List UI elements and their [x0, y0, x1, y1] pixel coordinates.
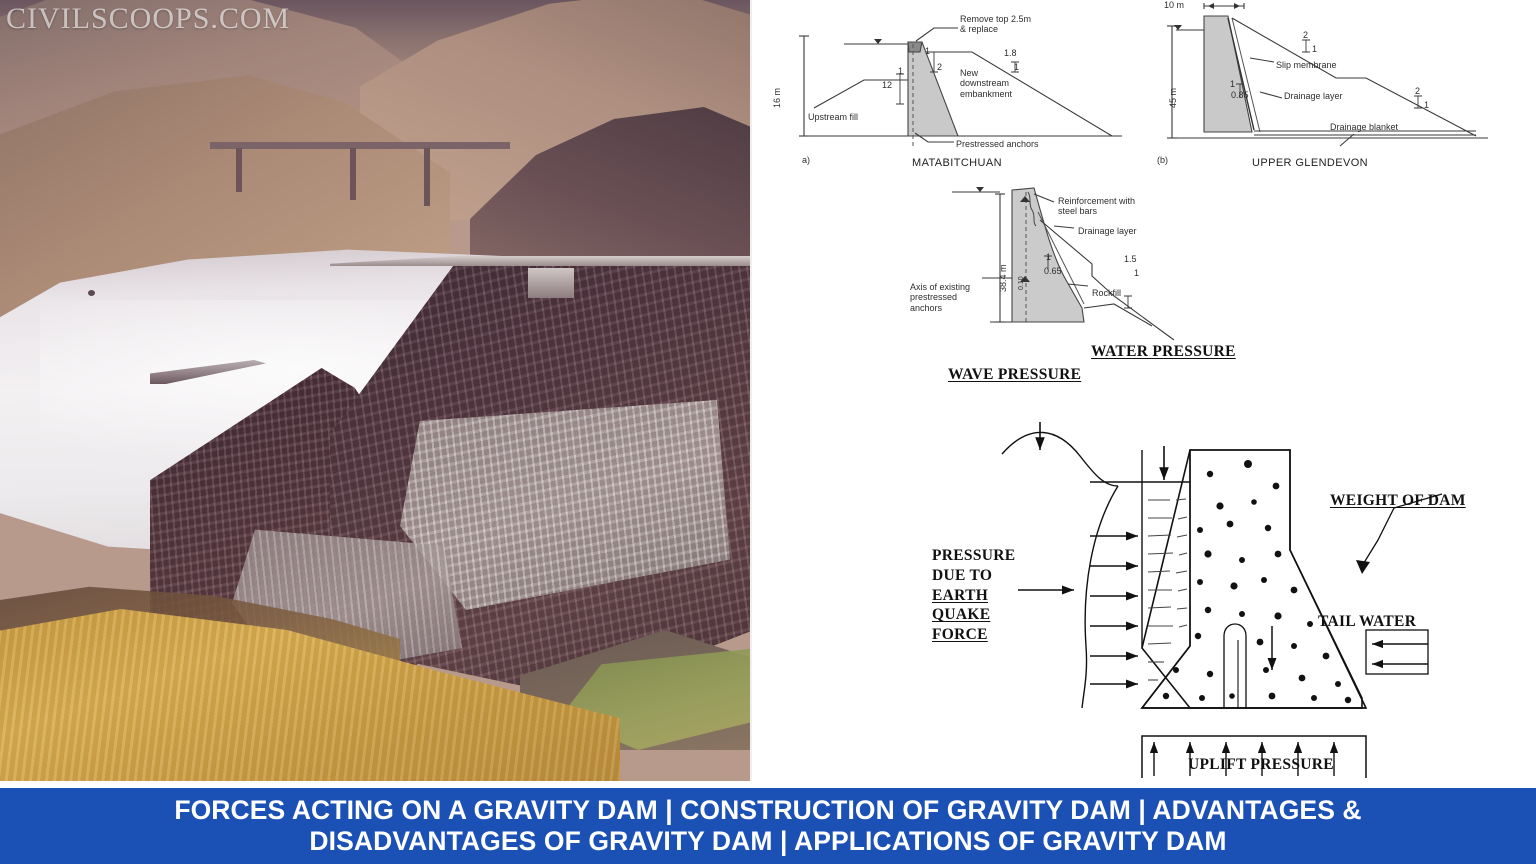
banner-line-1: Forces Acting on a Gravity Dam | Constru…: [174, 795, 1361, 826]
glendevon-slope-upper-den: 1: [1312, 44, 1317, 54]
glendevon-face-slope-num: 1: [1230, 79, 1235, 89]
prestressed-anchors-label: Prestressed anchors: [956, 139, 1039, 149]
upper-glendevon-section-drawing: [1140, 0, 1520, 160]
banner-text: Forces Acting on a Gravity Dam | Constru…: [174, 795, 1361, 856]
slope-12-denominator: 12: [882, 80, 892, 90]
bridge-deck: [210, 142, 510, 149]
drainage-blanket-label: Drainage blanket: [1330, 122, 1398, 132]
rockfill-label: Rockfill: [1092, 288, 1121, 298]
upstream-fill-label: Upstream fill: [808, 112, 858, 122]
buoy-marker: [88, 290, 95, 296]
glendevon-slope-lower-num: 2: [1415, 86, 1420, 96]
slope-12-numerator: 1: [898, 66, 903, 76]
axis-anchors-label: Axis of existing prestressed anchors: [910, 282, 970, 313]
glendevon-height-label: 45 m: [1168, 88, 1178, 108]
matabitchuan-height-label: 16 m: [772, 88, 782, 108]
glendevon-panel-letter: (b): [1157, 155, 1168, 165]
slope-core-denominator: 2: [937, 62, 942, 72]
bridge-pier: [424, 148, 430, 206]
slope-ds-denominator: 1: [1014, 62, 1019, 72]
new-embankment-label: New downstream embankment: [960, 68, 1012, 99]
slope-core-numerator: 1: [925, 46, 930, 56]
glendevon-crest-dim: 10 m: [1164, 0, 1184, 10]
bridge-pier: [350, 148, 356, 200]
reinforcement-label: Reinforcement with steel bars: [1058, 196, 1135, 217]
third-ds-slope-den: 1: [1134, 268, 1139, 278]
third-dam-height-label: 38.4 m: [998, 264, 1008, 292]
gatehouse-structure: [528, 268, 574, 298]
drainage-layer-label-c: Drainage layer: [1078, 226, 1137, 236]
matabitchuan-caption: MATABITCHUAN: [912, 157, 1002, 169]
slip-membrane-label: Slip membrane: [1276, 60, 1337, 70]
matabitchuan-panel-letter: a): [802, 155, 810, 165]
third-face-slope-den: 0.65: [1044, 266, 1062, 276]
third-face-slope-num: 1: [1046, 252, 1051, 262]
poster-root: CIVILSCOOPS.COM: [0, 0, 1536, 864]
banner-line-2: Disadvantages of Gravity Dam | Applicati…: [174, 826, 1361, 857]
dam-photograph: CIVILSCOOPS.COM: [0, 0, 750, 781]
glendevon-slope-upper-num: 2: [1303, 30, 1308, 40]
title-banner: Forces Acting on a Gravity Dam | Constru…: [0, 785, 1536, 864]
glendevon-slope-lower-den: 1: [1424, 100, 1429, 110]
slope-ds-numerator: 1.8: [1004, 48, 1017, 58]
diagram-panel: 16 m Upstream fill Remove top 2.5m & rep…: [752, 0, 1536, 781]
glendevon-face-slope-den: 0.85: [1231, 90, 1249, 100]
glendevon-caption: UPPER GLENDEVON: [1252, 157, 1368, 169]
bridge-pier: [236, 148, 242, 192]
gravity-dam-force-diagram: [942, 378, 1502, 778]
drainage-layer-label-b: Drainage layer: [1284, 91, 1343, 101]
third-ds-slope-num: 1.5: [1124, 254, 1137, 264]
site-watermark: CIVILSCOOPS.COM: [6, 2, 290, 36]
remove-top-label: Remove top 2.5m & replace: [960, 14, 1031, 35]
third-dam-inner-slope: 0.10: [1018, 276, 1026, 290]
water-pressure-label: WATER PRESSURE: [1091, 342, 1236, 362]
